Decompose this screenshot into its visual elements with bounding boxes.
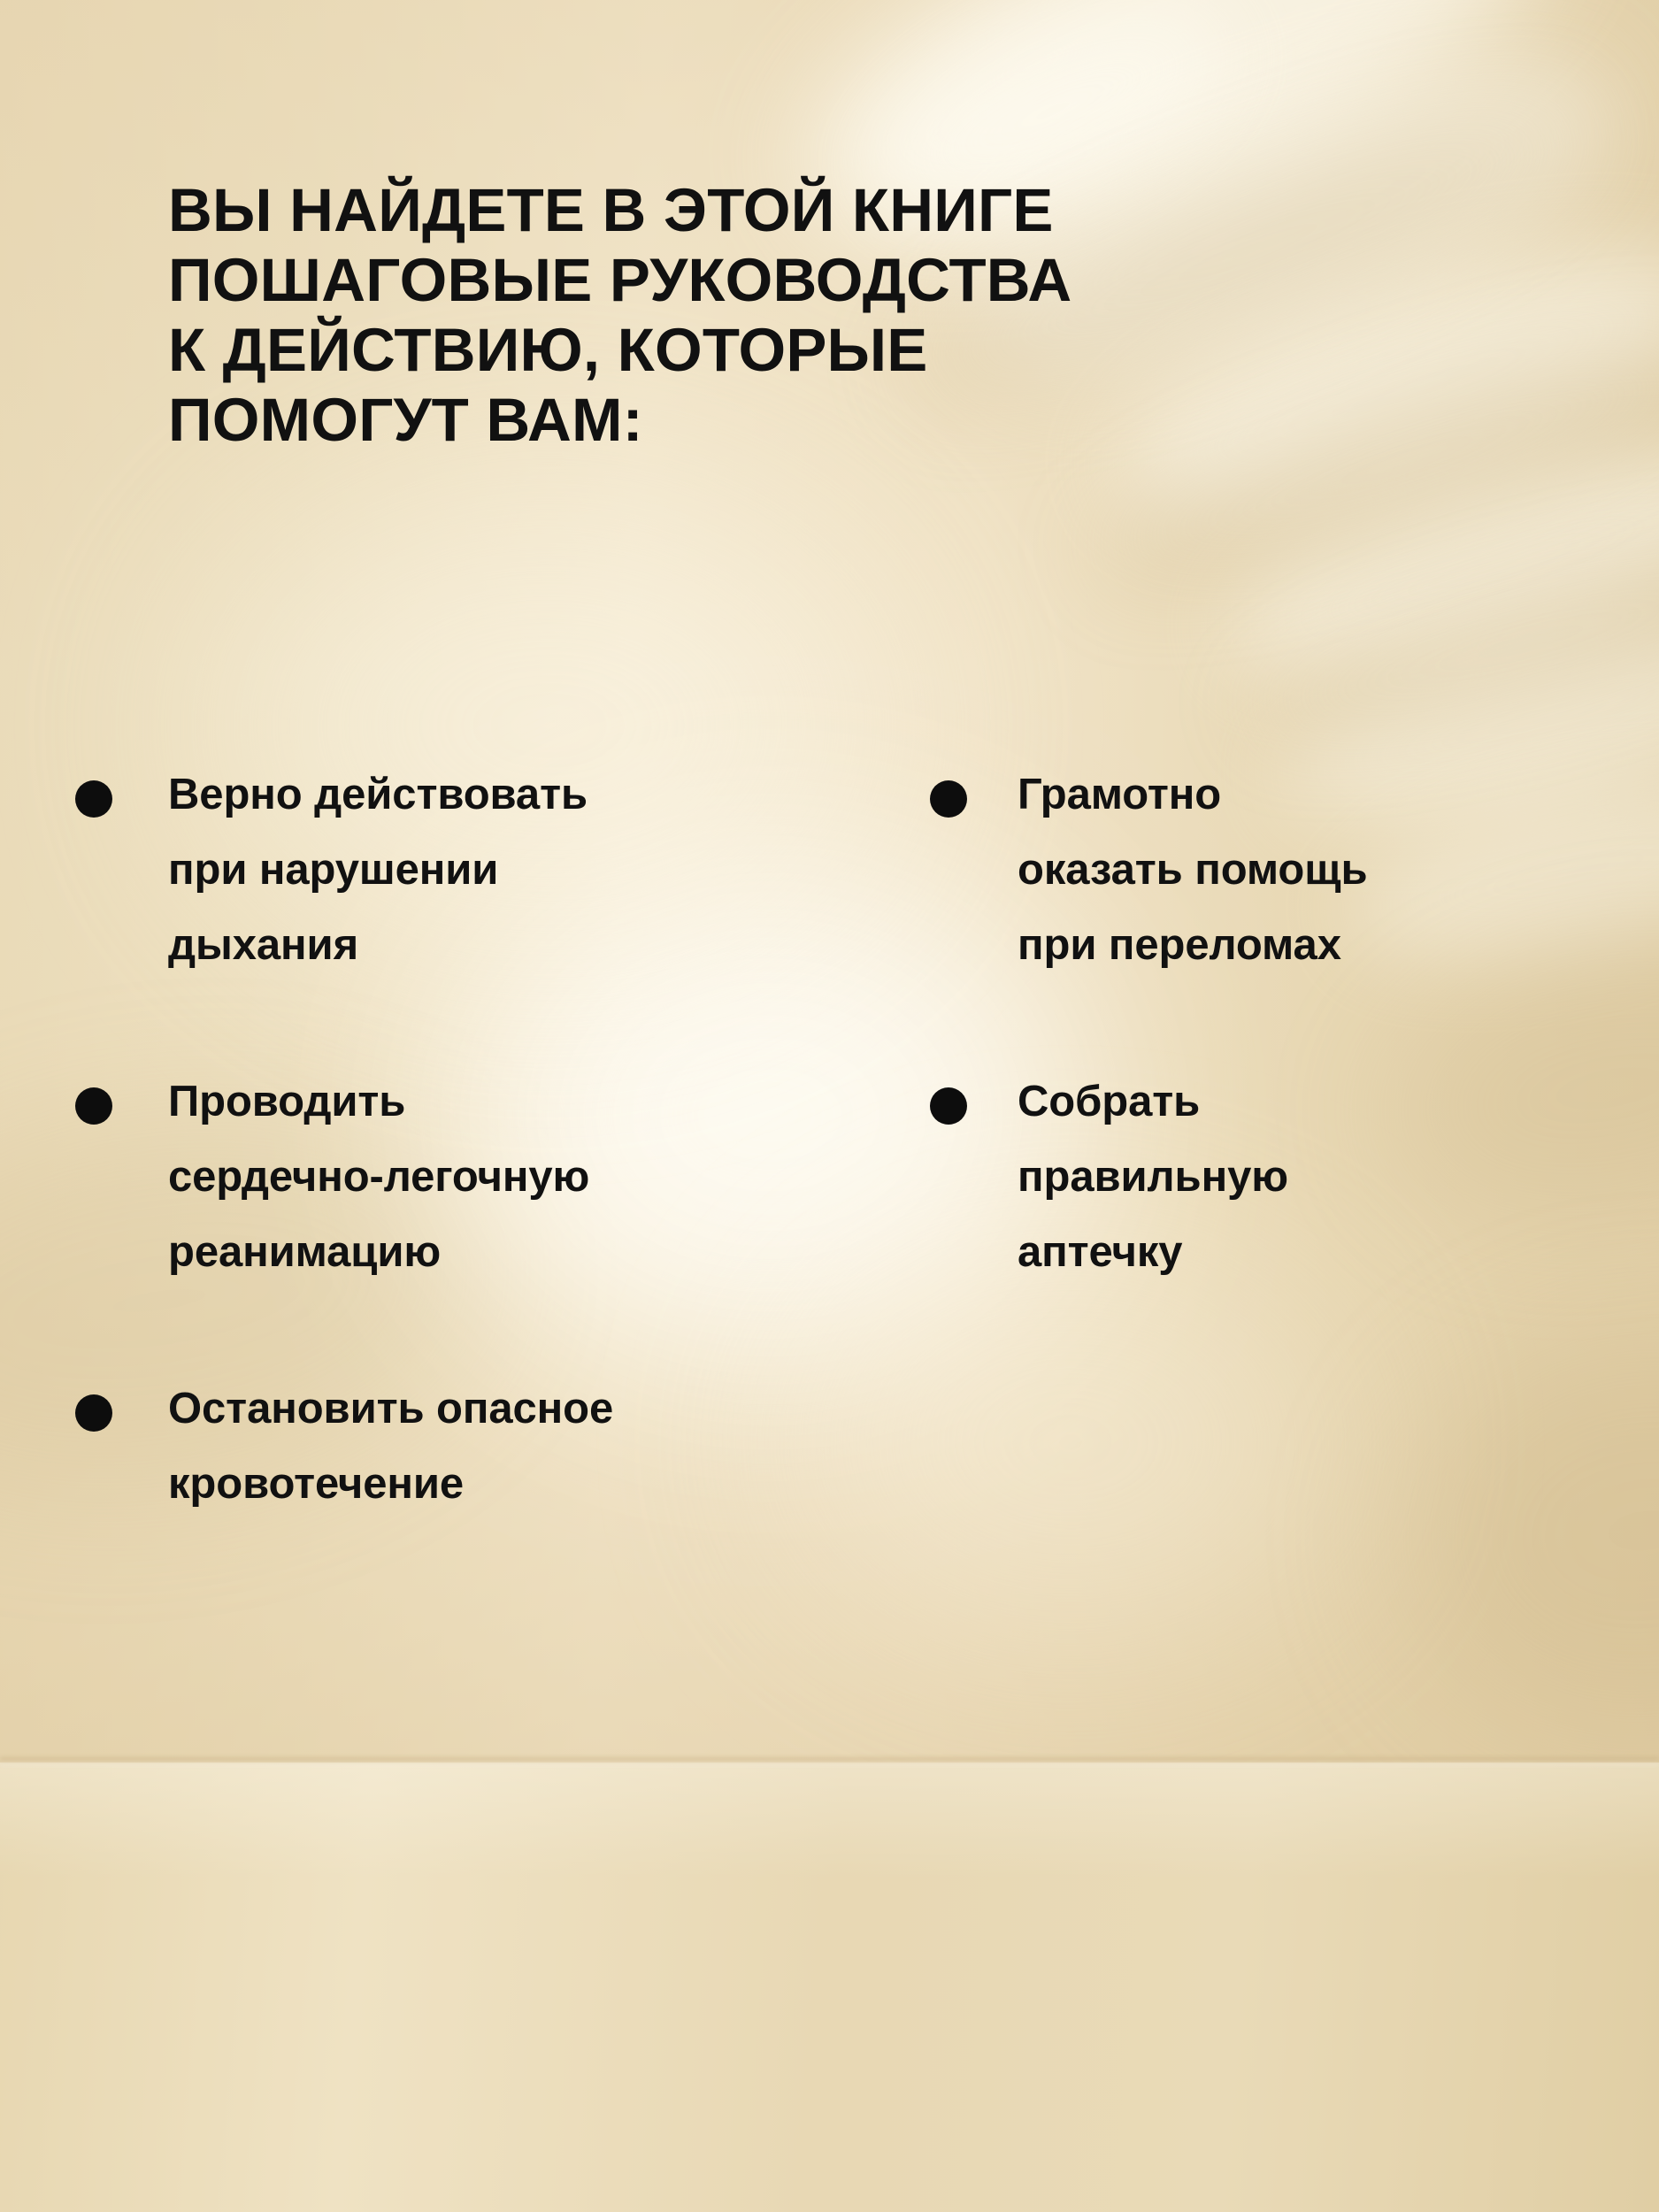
list-item-label: Остановить опасное кровотечение — [168, 1371, 878, 1522]
list-item-label: Верно действовать при нарушении дыхания — [168, 757, 878, 983]
bullet-dot-icon — [75, 1087, 112, 1125]
list-item: Верно действовать при нарушении дыхания — [55, 757, 878, 983]
bullet-dot-icon — [75, 780, 112, 818]
bullet-column-right: Грамотно оказать помощь при переломах Со… — [910, 757, 1644, 1371]
poster-canvas: ВЫ НАЙДЕТЕ В ЭТОЙ КНИГЕ ПОШАГОВЫЕ РУКОВО… — [0, 0, 1659, 2212]
list-item: Остановить опасное кровотечение — [55, 1371, 878, 1522]
list-item-label: Собрать правильную аптечку — [1018, 1064, 1644, 1290]
poster-content: ВЫ НАЙДЕТЕ В ЭТОЙ КНИГЕ ПОШАГОВЫЕ РУКОВО… — [0, 0, 1659, 2212]
bullet-dot-icon — [75, 1394, 112, 1432]
list-item: Грамотно оказать помощь при переломах — [910, 757, 1644, 983]
list-item-label: Грамотно оказать помощь при переломах — [1018, 757, 1644, 983]
page-title: ВЫ НАЙДЕТЕ В ЭТОЙ КНИГЕ ПОШАГОВЫЕ РУКОВО… — [168, 175, 1495, 455]
list-item: Собрать правильную аптечку — [910, 1064, 1644, 1290]
list-item: Проводить сердечно-легочную реанимацию — [55, 1064, 878, 1290]
bullet-dot-icon — [930, 780, 967, 818]
bullet-dot-icon — [930, 1087, 967, 1125]
bullet-column-left: Верно действовать при нарушении дыхания … — [55, 757, 878, 1603]
list-item-label: Проводить сердечно-легочную реанимацию — [168, 1064, 878, 1290]
